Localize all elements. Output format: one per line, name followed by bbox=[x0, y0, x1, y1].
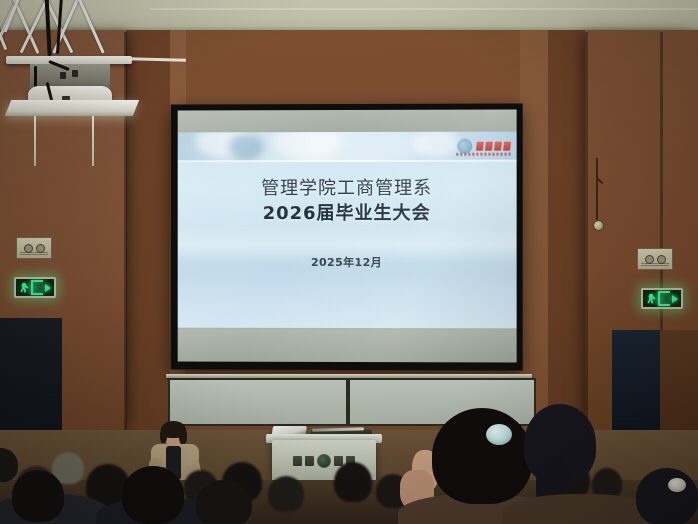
wall-fixture-icon bbox=[593, 220, 604, 231]
doorway-right bbox=[612, 330, 662, 445]
notice-text-lines bbox=[20, 252, 48, 256]
door-icon bbox=[31, 280, 43, 295]
mount-drop-rod bbox=[92, 108, 94, 166]
wall-seam-far-right bbox=[660, 32, 663, 332]
lectern-seal-icon bbox=[317, 454, 331, 468]
slide-title-line1: 管理学院工商管理系 bbox=[178, 176, 517, 201]
cable-connector bbox=[72, 70, 78, 77]
speaker-glasses-icon bbox=[165, 433, 182, 438]
logo-wordmark bbox=[476, 141, 510, 150]
cable-connector bbox=[60, 72, 66, 79]
audience-head bbox=[636, 468, 698, 524]
audience-head bbox=[334, 462, 372, 502]
door-icon bbox=[658, 291, 670, 306]
wall-notice-plate-left bbox=[16, 237, 52, 259]
wall-panel-far-right bbox=[660, 330, 698, 445]
screen-top-margin bbox=[178, 109, 517, 132]
lecture-hall-photo: 管理学院工商管理系 2026届毕业生大会 2025年12月 bbox=[0, 0, 698, 524]
slide-date: 2025年12月 bbox=[178, 254, 517, 270]
logo-seal-icon bbox=[456, 137, 473, 154]
projection-screen: 管理学院工商管理系 2026届毕业生大会 2025年12月 bbox=[171, 103, 523, 370]
audience-head bbox=[432, 408, 532, 504]
screen-bottom-margin bbox=[178, 330, 517, 363]
wall-notice-plate-right bbox=[637, 248, 673, 270]
audience-head bbox=[12, 470, 64, 522]
audience-head bbox=[122, 466, 184, 524]
ceiling-seam bbox=[150, 8, 698, 10]
projector-cable bbox=[56, 0, 63, 54]
exit-sign-left bbox=[14, 277, 56, 298]
ceiling-light-panel bbox=[5, 100, 139, 116]
hair-scrunchie bbox=[486, 424, 512, 445]
banner-underline bbox=[178, 160, 517, 163]
mount-crossbar bbox=[6, 56, 132, 64]
mount-drop-rod bbox=[34, 108, 36, 166]
screen-surface: 管理学院工商管理系 2026届毕业生大会 2025年12月 bbox=[178, 109, 517, 362]
arrow-right-icon bbox=[672, 295, 678, 303]
wall-seam-right bbox=[585, 32, 588, 432]
presentation-slide: 管理学院工商管理系 2026届毕业生大会 2025年12月 bbox=[178, 132, 517, 329]
arrow-right-icon bbox=[45, 284, 51, 292]
logo-subtext bbox=[456, 153, 510, 156]
audience-head bbox=[268, 476, 304, 512]
doorway-left bbox=[0, 318, 62, 448]
whiteboard-left bbox=[168, 378, 348, 426]
hair-clip bbox=[668, 478, 686, 492]
audience-head bbox=[196, 480, 252, 524]
notice-text-lines bbox=[641, 263, 669, 267]
projector-power-cable bbox=[34, 66, 37, 88]
slide-header-banner bbox=[178, 132, 517, 163]
slide-title-line2: 2026届毕业生大会 bbox=[178, 201, 517, 226]
exit-sign-right bbox=[641, 288, 683, 309]
projector-mount-plate bbox=[30, 64, 110, 88]
slide-title: 管理学院工商管理系 2026届毕业生大会 bbox=[178, 176, 517, 226]
wall-cable bbox=[596, 158, 598, 220]
